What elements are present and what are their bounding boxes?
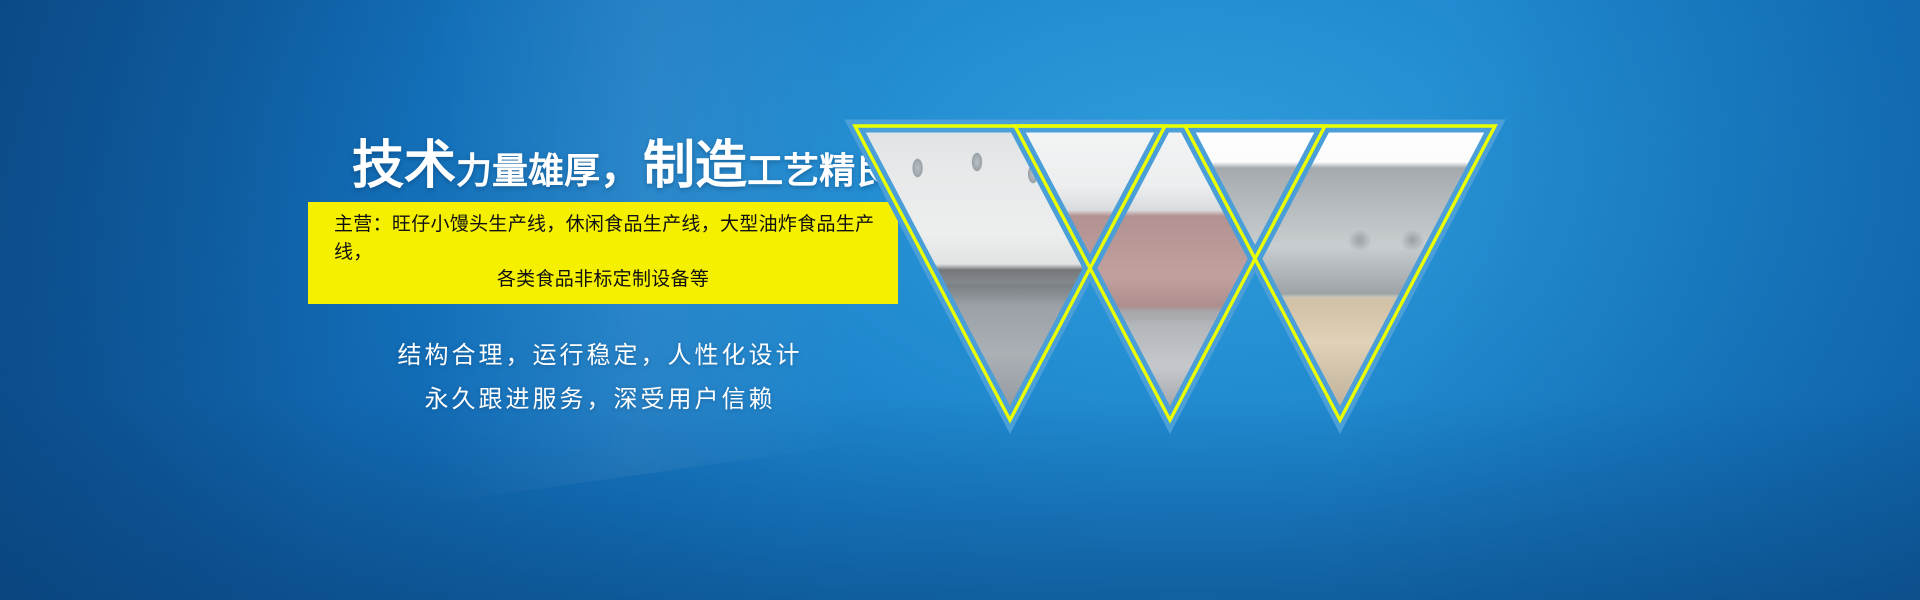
highlight-line-2: 各类食品非标定制设备等	[318, 266, 888, 294]
triangle-photo-collage	[845, 100, 1545, 440]
subtitle-group: 结构合理，运行稳定，人性化设计 永久跟进服务，深受用户信赖	[300, 334, 900, 423]
subtitle-line-1: 结构合理，运行稳定，人性化设计	[300, 334, 900, 378]
main-business-highlight-box: 主营：旺仔小馒头生产线，休闲食品生产线，大型油炸食品生产线， 各类食品非标定制设…	[308, 202, 898, 304]
promo-banner: 技术力量雄厚，制造工艺精良 主营：旺仔小馒头生产线，休闲食品生产线，大型油炸食品…	[0, 0, 1920, 600]
headline-part-1: 技术	[352, 137, 456, 195]
headline-part-3: ，	[600, 145, 643, 192]
headline: 技术力量雄厚，制造工艺精良	[352, 140, 900, 192]
headline-part-4: 制造	[643, 137, 747, 195]
banner-text-block: 技术力量雄厚，制造工艺精良 主营：旺仔小馒头生产线，休闲食品生产线，大型油炸食品…	[300, 140, 900, 422]
subtitle-line-2: 永久跟进服务，深受用户信赖	[300, 378, 900, 422]
headline-part-2: 力量雄厚	[456, 150, 600, 191]
highlight-line-1: 主营：旺仔小馒头生产线，休闲食品生产线，大型油炸食品生产线，	[318, 211, 888, 266]
